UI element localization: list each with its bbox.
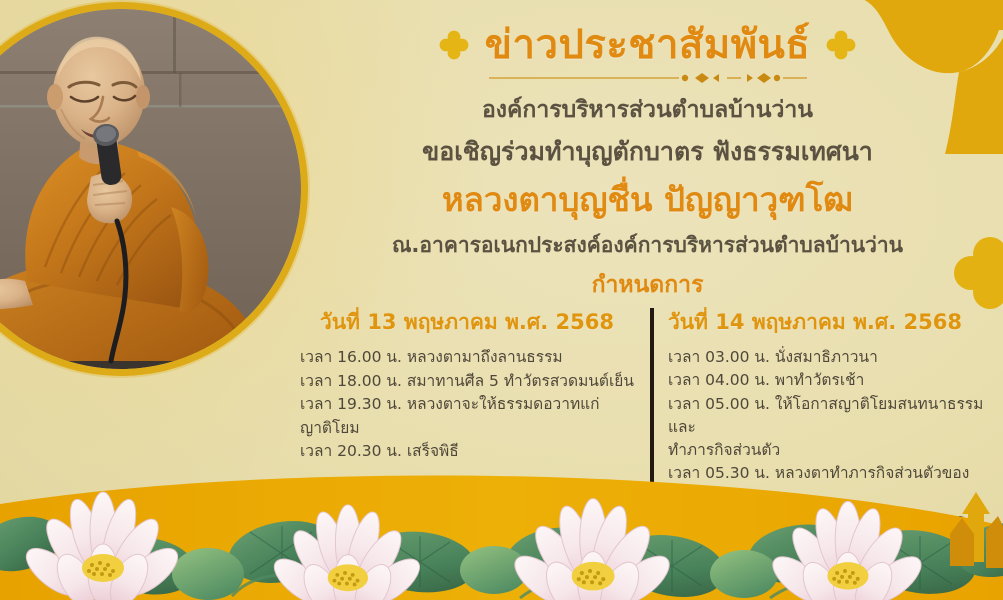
schedule-item: เวลา 20.30 น. เสร็จพิธี [300, 440, 634, 464]
schedule-item: เวลา 16.00 น. หลวงตามาถึงลานธรรม [300, 346, 634, 370]
monk-portrait-frame [0, 2, 308, 376]
schedule-item: เวลา 03.00 น. นั่งสมาธิภาวนา [668, 346, 990, 369]
schedule-column-day1: วันที่ 13 พฤษภาคม พ.ศ. 2568 เวลา 16.00 น… [300, 306, 650, 600]
photo-gold-ring [0, 2, 308, 376]
poster-header: ข่าวประชาสัมพันธ์ องค์การบริห [300, 22, 995, 303]
fleur-de-lis-ornament-icon [439, 30, 469, 60]
title-row: ข่าวประชาสัมพันธ์ [300, 22, 995, 68]
schedule-item: เวลา 19.30 น. หลวงตาจะให้ธรรมดอวาทแก่ญาต… [300, 393, 634, 440]
fleur-de-lis-ornament-icon [826, 30, 856, 60]
schedule-item: เวลา 18.00 น. สมาทานศีล 5 ทำวัตรสวดมนต์เ… [300, 370, 634, 394]
schedule-item: เวลา 06.00 น. รับบิณฑบาต-เข้าพิธีทางพุทธ… [668, 509, 990, 600]
schedule-day2-header: วันที่ 14 พฤษภาคม พ.ศ. 2568 [668, 306, 990, 339]
invitation-text: ขอเชิญร่วมทำบุญตักบาตร ฟังธรรมเทศนา [300, 136, 995, 169]
schedule-column-day2: วันที่ 14 พฤษภาคม พ.ศ. 2568 เวลา 03.00 น… [650, 306, 990, 600]
organization-name: องค์การบริหารส่วนตำบลบ้านว่าน [300, 96, 995, 126]
schedule-heading: กำหนดการ [300, 267, 995, 303]
page-title: ข่าวประชาสัมพันธ์ [485, 22, 811, 68]
venue-text: ณ.อาคารอเนกประสงค์องค์การบริหารส่วนตำบลบ… [300, 232, 995, 259]
schedule-item: เวลา 04.00 น. พาทำวัตรเช้า [668, 369, 990, 392]
ornamental-divider-icon [483, 71, 813, 85]
monk-name: หลวงตาบุญชื่น ปัญญาวุฑโฒ [300, 179, 995, 220]
schedule-section: วันที่ 13 พฤษภาคม พ.ศ. 2568 เวลา 16.00 น… [300, 306, 990, 600]
schedule-day1-header: วันที่ 13 พฤษภาคม พ.ศ. 2568 [300, 306, 634, 339]
schedule-item: เวลา 05.00 น. ให้โอกาสญาติโยมสนทนาธรรมแล… [668, 393, 990, 463]
schedule-item: เวลา 05.30 น. หลวงตาทำภารกิจส่วนตัวของท่… [668, 462, 990, 509]
event-poster: ข่าวประชาสัมพันธ์ องค์การบริห [0, 0, 1003, 600]
